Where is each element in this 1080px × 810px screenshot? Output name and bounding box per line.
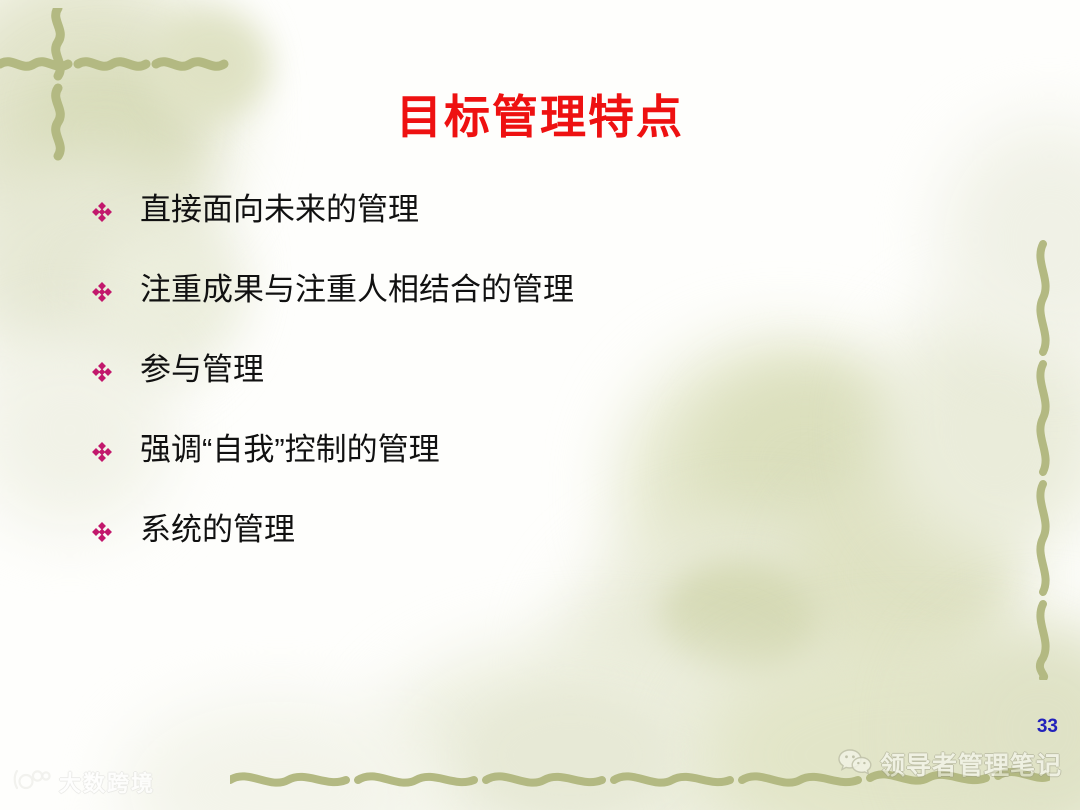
diamond-cluster-bullet-icon — [92, 362, 118, 386]
wechat-icon — [838, 748, 872, 781]
slide-title: 目标管理特点 — [0, 92, 1080, 143]
dashu-logo-icon — [12, 767, 52, 798]
list-item: 系统的管理 — [92, 512, 912, 592]
list-item-label: 直接面向未来的管理 — [140, 192, 912, 228]
list-item: 注重成果与注重人相结合的管理 — [92, 272, 912, 352]
list-item: 强调“自我”控制的管理 — [92, 432, 912, 512]
diamond-cluster-bullet-icon — [92, 202, 118, 226]
diamond-cluster-bullet-icon — [92, 282, 118, 306]
right-edge-wavy-decoration — [1026, 240, 1060, 680]
wechat-watermark: 领导者管理笔记 — [838, 746, 1062, 782]
wechat-watermark-label: 领导者管理笔记 — [880, 746, 1062, 782]
bullet-list: 直接面向未来的管理 注重成果与注重人相结合的管理 — [92, 192, 912, 592]
page-number: 33 — [1037, 716, 1058, 738]
brand-watermark: 大数跨境 — [12, 766, 155, 798]
list-item-label: 注重成果与注重人相结合的管理 — [140, 272, 912, 308]
list-item-label: 参与管理 — [140, 352, 912, 388]
list-item-label: 强调“自我”控制的管理 — [140, 432, 912, 468]
slide-canvas: 目标管理特点 直接面向未来的管理 — [0, 0, 1080, 810]
brand-watermark-label: 大数跨境 — [59, 766, 155, 798]
list-item: 直接面向未来的管理 — [92, 192, 912, 272]
list-item-label: 系统的管理 — [140, 512, 912, 548]
diamond-cluster-bullet-icon — [92, 522, 118, 546]
corner-cross-decoration — [0, 8, 230, 168]
list-item: 参与管理 — [92, 352, 912, 432]
diamond-cluster-bullet-icon — [92, 442, 118, 466]
